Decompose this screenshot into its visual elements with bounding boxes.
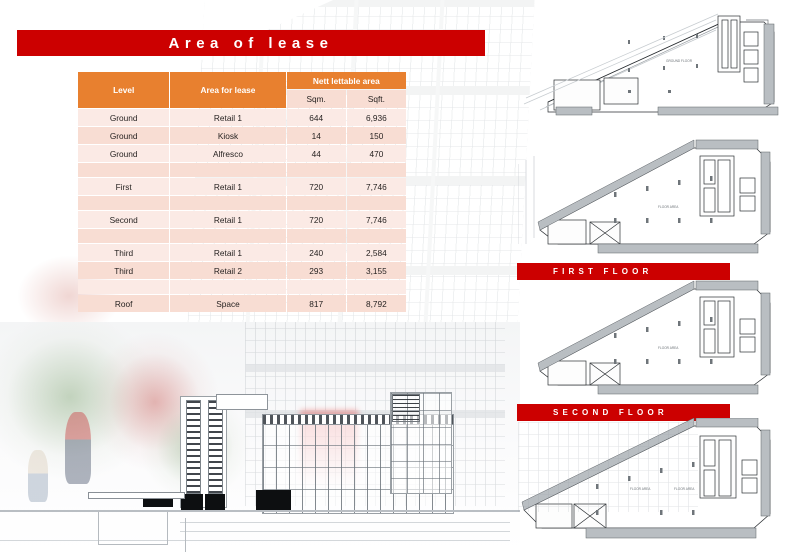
table-spacer-row bbox=[78, 196, 406, 210]
cell-sqm: 644 bbox=[287, 109, 346, 126]
road-line bbox=[0, 540, 510, 541]
floor-plan-ground: GROUND FLOOR bbox=[518, 2, 800, 124]
page-root: Area of lease Level Area for lease Nett … bbox=[0, 0, 800, 552]
cell-area-for-lease bbox=[170, 196, 285, 210]
cell-sqft bbox=[347, 229, 406, 243]
table-row: SecondRetail 17207,746 bbox=[78, 211, 406, 228]
column-header-nett-lettable-area: Nett lettable area bbox=[287, 72, 406, 89]
site-plan-line bbox=[98, 512, 99, 545]
table-row: GroundKiosk14150 bbox=[78, 127, 406, 144]
cell-level: Ground bbox=[78, 145, 169, 162]
entrance-void bbox=[256, 490, 291, 512]
cell-sqm: 14 bbox=[287, 127, 346, 144]
cell-sqft: 3,155 bbox=[347, 262, 406, 279]
cell-sqft: 6,936 bbox=[347, 109, 406, 126]
cell-level: First bbox=[78, 178, 169, 195]
site-plan-line bbox=[185, 518, 186, 552]
cell-area-for-lease: Kiosk bbox=[170, 127, 285, 144]
stair-core-louvre bbox=[392, 394, 420, 422]
page-title-banner: Area of lease bbox=[17, 30, 485, 56]
person-figure bbox=[28, 450, 48, 502]
svg-text:FLOOR AREA: FLOOR AREA bbox=[658, 346, 679, 350]
cell-sqft bbox=[347, 196, 406, 210]
table-spacer-row bbox=[78, 163, 406, 177]
road-line bbox=[180, 531, 510, 532]
cell-area-for-lease: Retail 1 bbox=[170, 211, 285, 228]
cell-sqm: 293 bbox=[287, 262, 346, 279]
cell-area-for-lease: Retail 1 bbox=[170, 244, 285, 261]
table-header-row-1: Level Area for lease Nett lettable area bbox=[78, 72, 406, 89]
cell-level: Third bbox=[78, 244, 169, 261]
cell-area-for-lease bbox=[170, 229, 285, 243]
cell-level: Roof bbox=[78, 295, 169, 312]
cell-level bbox=[78, 196, 169, 210]
cell-area-for-lease: Retail 1 bbox=[170, 178, 285, 195]
roof-cap bbox=[216, 394, 268, 410]
cell-sqft: 2,584 bbox=[347, 244, 406, 261]
ground-line bbox=[0, 510, 520, 512]
cell-level bbox=[78, 280, 169, 294]
table-head: Level Area for lease Nett lettable area … bbox=[78, 72, 406, 108]
tower-fin bbox=[186, 400, 201, 494]
floor-plan-first-drawing: FLOOR AREA bbox=[518, 134, 800, 256]
table-row: GroundAlfresco44470 bbox=[78, 145, 406, 162]
table-row: RoofSpace8178,792 bbox=[78, 295, 406, 312]
cell-sqft: 7,746 bbox=[347, 178, 406, 195]
table-row: ThirdRetail 12402,584 bbox=[78, 244, 406, 261]
cell-sqft bbox=[347, 280, 406, 294]
cell-level bbox=[78, 229, 169, 243]
cell-sqft: 8,792 bbox=[347, 295, 406, 312]
cell-area-for-lease: Alfresco bbox=[170, 145, 285, 162]
cell-sqm: 720 bbox=[287, 211, 346, 228]
cell-area-for-lease bbox=[170, 163, 285, 177]
cell-sqm bbox=[287, 163, 346, 177]
floor-plan-ground-drawing: GROUND FLOOR bbox=[518, 2, 800, 124]
cell-area-for-lease: Retail 2 bbox=[170, 262, 285, 279]
person-figure bbox=[65, 412, 91, 484]
table-spacer-row bbox=[78, 229, 406, 243]
cell-level: Second bbox=[78, 211, 169, 228]
cell-sqm: 720 bbox=[287, 178, 346, 195]
cell-sqm: 817 bbox=[287, 295, 346, 312]
cell-area-for-lease: Space bbox=[170, 295, 285, 312]
site-plan-line bbox=[167, 512, 168, 545]
cell-level: Ground bbox=[78, 127, 169, 144]
svg-text:GROUND FLOOR: GROUND FLOOR bbox=[666, 59, 693, 63]
column-header-sqft: Sqft. bbox=[347, 90, 406, 108]
site-plan-line bbox=[98, 544, 168, 545]
cell-sqm bbox=[287, 280, 346, 294]
cell-level: Third bbox=[78, 262, 169, 279]
plan-background-ghost bbox=[518, 422, 698, 512]
svg-text:FLOOR AREA: FLOOR AREA bbox=[658, 205, 679, 209]
floor-plan-second: FLOOR AREA bbox=[518, 275, 800, 397]
cell-area-for-lease: Retail 1 bbox=[170, 109, 285, 126]
cell-sqm: 44 bbox=[287, 145, 346, 162]
table-row: GroundRetail 16446,936 bbox=[78, 109, 406, 126]
page-title: Area of lease bbox=[169, 35, 334, 52]
column-header-level: Level bbox=[78, 72, 169, 108]
building-elevation-rendering bbox=[0, 322, 520, 552]
cell-sqm bbox=[287, 229, 346, 243]
table-spacer-row bbox=[78, 280, 406, 294]
table-row: FirstRetail 17207,746 bbox=[78, 178, 406, 195]
cell-sqft: 150 bbox=[347, 127, 406, 144]
cell-level bbox=[78, 163, 169, 177]
entry-canopy bbox=[88, 492, 185, 499]
cell-sqft bbox=[347, 163, 406, 177]
road-line bbox=[180, 522, 510, 523]
column-header-sqm: Sqm. bbox=[287, 90, 346, 108]
area-of-lease-table: Level Area for lease Nett lettable area … bbox=[77, 71, 407, 313]
floor-plan-first: FLOOR AREA bbox=[518, 134, 800, 256]
background-tower-slab bbox=[245, 364, 505, 372]
column-header-area-for-lease: Area for lease bbox=[170, 72, 285, 108]
table-body: GroundRetail 16446,936GroundKiosk14150Gr… bbox=[78, 109, 406, 312]
cell-level: Ground bbox=[78, 109, 169, 126]
cell-area-for-lease bbox=[170, 280, 285, 294]
cell-sqft: 7,746 bbox=[347, 211, 406, 228]
banner-second-floor-label: SECOND FLOOR bbox=[517, 408, 668, 417]
floor-plan-second-drawing: FLOOR AREA bbox=[518, 275, 800, 397]
tower-fin bbox=[208, 400, 223, 494]
table-row: ThirdRetail 22933,155 bbox=[78, 262, 406, 279]
cell-sqm: 240 bbox=[287, 244, 346, 261]
cell-sqm bbox=[287, 196, 346, 210]
cell-sqft: 470 bbox=[347, 145, 406, 162]
